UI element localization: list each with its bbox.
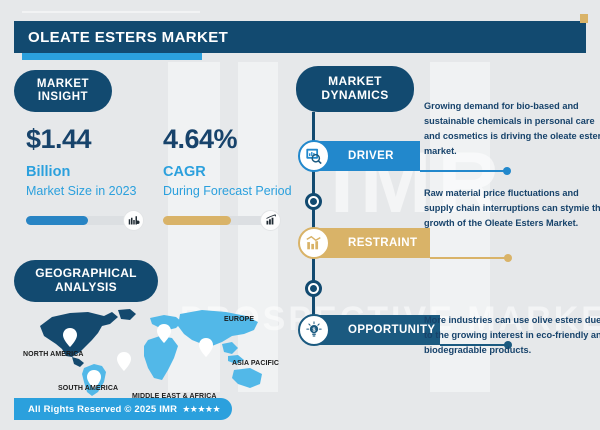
kpi-unit: Billion bbox=[26, 164, 156, 180]
geo-pill-line2: ANALYSIS bbox=[55, 281, 117, 295]
header-bar: OLEATE ESTERS MARKET bbox=[14, 21, 586, 53]
kpi-market-size: $1.44 Billion Market Size in 2023 bbox=[26, 124, 156, 230]
svg-text:$: $ bbox=[313, 327, 316, 333]
dynamics-pill-line1: MARKET bbox=[328, 75, 382, 89]
restraint-label: RESTRAINT bbox=[348, 237, 417, 249]
kpi-value: $1.44 bbox=[26, 124, 156, 155]
opportunity-label: OPPORTUNITY bbox=[348, 324, 435, 336]
driver-description: Growing demand for bio-based and sustain… bbox=[424, 99, 600, 159]
footer-bar: All Rights Reserved © 2025 IMR ★★★★★ bbox=[14, 398, 232, 420]
kpi-value: 4.64% bbox=[163, 124, 303, 155]
footer-copyright: All Rights Reserved © 2025 IMR bbox=[28, 404, 177, 415]
kpi-unit: CAGR bbox=[163, 164, 303, 180]
kpi-description: During Forecast Period bbox=[163, 183, 303, 200]
infographic-canvas: IMR PROSPECTIVE MARKET OLEATE ESTERS MAR… bbox=[0, 0, 600, 430]
world-map: NORTH AMERICA SOUTH AMERICA EUROPE ASIA … bbox=[22, 300, 292, 398]
kpi-description: Market Size in 2023 bbox=[26, 183, 156, 200]
geographical-analysis-pill: GEOGRAPHICAL ANALYSIS bbox=[14, 260, 158, 302]
map-label-north-america: NORTH AMERICA bbox=[23, 351, 84, 358]
progress-fill bbox=[163, 216, 231, 225]
header-corner-square bbox=[580, 14, 588, 23]
driver-label: DRIVER bbox=[348, 150, 394, 162]
dynamics-pill-line2: DYNAMICS bbox=[321, 89, 388, 103]
timeline-node bbox=[305, 280, 322, 297]
map-label-asia-pacific: ASIA PACIFIC bbox=[232, 360, 279, 367]
timeline-node bbox=[305, 193, 322, 210]
driver-leader-line bbox=[420, 170, 507, 172]
kpi-progress-bar bbox=[26, 210, 144, 230]
kpi-progress-bar bbox=[163, 210, 281, 230]
geo-pill-line1: GEOGRAPHICAL bbox=[35, 267, 137, 281]
market-insight-pill-line2: INSIGHT bbox=[38, 91, 88, 104]
kpi-cagr: 4.64% CAGR During Forecast Period bbox=[163, 124, 303, 230]
growth-chart-icon bbox=[260, 210, 281, 231]
map-label-europe: EUROPE bbox=[224, 316, 254, 323]
footer-rating-stars: ★★★★★ bbox=[182, 404, 220, 415]
market-dynamics-pill: MARKET DYNAMICS bbox=[296, 66, 414, 112]
header-topline bbox=[22, 11, 200, 13]
restraint-leader-dot bbox=[504, 254, 512, 262]
lightbulb-idea-icon: $ bbox=[298, 314, 330, 346]
progress-fill bbox=[26, 216, 88, 225]
map-label-south-america: SOUTH AMERICA bbox=[58, 385, 118, 392]
factory-chart-icon bbox=[123, 210, 144, 231]
market-insight-pill-line1: MARKET bbox=[37, 78, 89, 91]
header-accent-strip bbox=[22, 53, 202, 60]
opportunity-description: More industries can use olive esters due… bbox=[424, 313, 600, 358]
restraint-leader-line bbox=[430, 257, 508, 259]
driver-leader-dot bbox=[503, 167, 511, 175]
analysis-magnifier-icon bbox=[298, 140, 330, 172]
market-insight-pill: MARKET INSIGHT bbox=[14, 70, 112, 112]
declining-bar-chart-icon bbox=[298, 227, 330, 259]
page-title: OLEATE ESTERS MARKET bbox=[28, 29, 228, 46]
restraint-description: Raw material price fluctuations and supp… bbox=[424, 186, 600, 231]
